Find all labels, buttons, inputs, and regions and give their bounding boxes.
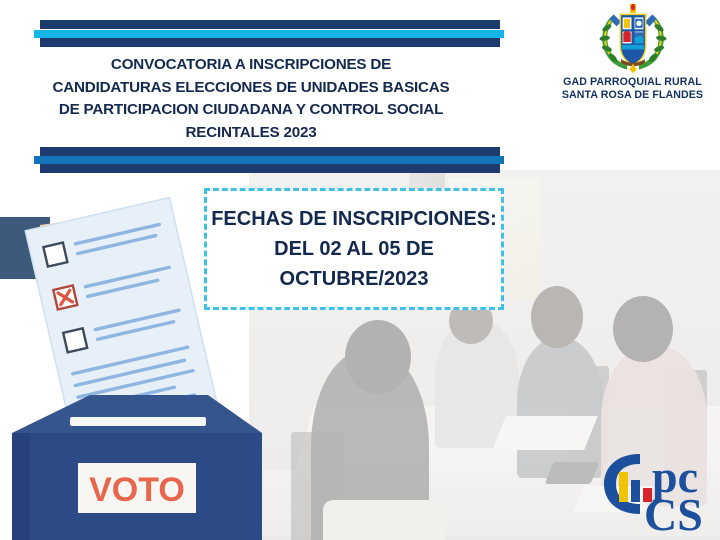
ballot-box-slot: [70, 417, 206, 426]
page-title-line-2: CANDIDATURAS ELECCIONES DE UNIDADES BASI…: [16, 77, 486, 100]
dates-line-3: OCTUBRE/2023: [207, 264, 501, 294]
decorative-bar-bottom-navy-1: [40, 147, 500, 156]
decorative-bar-top-navy-2: [40, 38, 500, 47]
checkbox-empty-2: [63, 328, 87, 352]
decorative-bar-bottom: [0, 140, 520, 180]
ballot-box-top: [12, 395, 262, 433]
poster-canvas: CONVOCATORIA A INSCRIPCIONES DE CANDIDAT…: [0, 0, 720, 540]
gad-logo-text: GAD PARROQUIAL RURAL SANTA ROSA DE FLAND…: [545, 76, 720, 102]
dates-line-1: FECHAS DE INSCRIPCIONES:: [207, 204, 501, 234]
decorative-bar-bottom-navy-2: [40, 164, 500, 173]
decorative-bar-bottom-blue: [34, 156, 504, 164]
photo-person-1-head: [345, 320, 411, 394]
dates-line-2: DEL 02 AL 05 DE: [207, 234, 501, 264]
photo-person-4-head: [613, 296, 673, 362]
decorative-bar-top-navy-1: [40, 20, 500, 29]
photo-person-3-head: [531, 286, 583, 348]
page-title-line-1: CONVOCATORIA A INSCRIPCIONES DE: [16, 54, 486, 77]
cpccs-logo: pc CS: [600, 448, 712, 534]
page-title: CONVOCATORIA A INSCRIPCIONES DE CANDIDAT…: [16, 54, 486, 144]
photo-person-3: [517, 338, 603, 478]
photo-papers: [492, 416, 598, 450]
dates-callout-text: FECHAS DE INSCRIPCIONES: DEL 02 AL 05 DE…: [207, 204, 501, 294]
cpccs-text-bottom: CS: [644, 489, 703, 534]
cpccs-logo-svg: pc CS: [600, 448, 712, 534]
gad-logo-line-2: SANTA ROSA DE FLANDES: [545, 89, 720, 102]
decorative-bar-top: [0, 0, 520, 50]
gad-logo-block: GAD PARROQUIAL RURAL SANTA ROSA DE FLAND…: [545, 4, 720, 102]
cpccs-bar-yellow: [619, 472, 628, 502]
decorative-bar-top-cyan: [34, 30, 504, 38]
checkbox-empty-1: [43, 243, 67, 267]
cpccs-bar-blue: [631, 480, 640, 502]
dates-callout-box: FECHAS DE INSCRIPCIONES: DEL 02 AL 05 DE…: [204, 188, 504, 310]
ballot-box-body-shade: [12, 433, 30, 540]
coat-of-arms-shield-icon: [595, 4, 671, 74]
page-title-line-3: DE PARTICIPACION CIUDADANA Y CONTROL SOC…: [16, 99, 486, 122]
gad-logo-line-1: GAD PARROQUIAL RURAL: [545, 76, 720, 89]
photo-phone: [545, 462, 600, 484]
photo-person-1-pants: [323, 500, 445, 540]
voto-label-text: VOTO: [89, 471, 185, 509]
